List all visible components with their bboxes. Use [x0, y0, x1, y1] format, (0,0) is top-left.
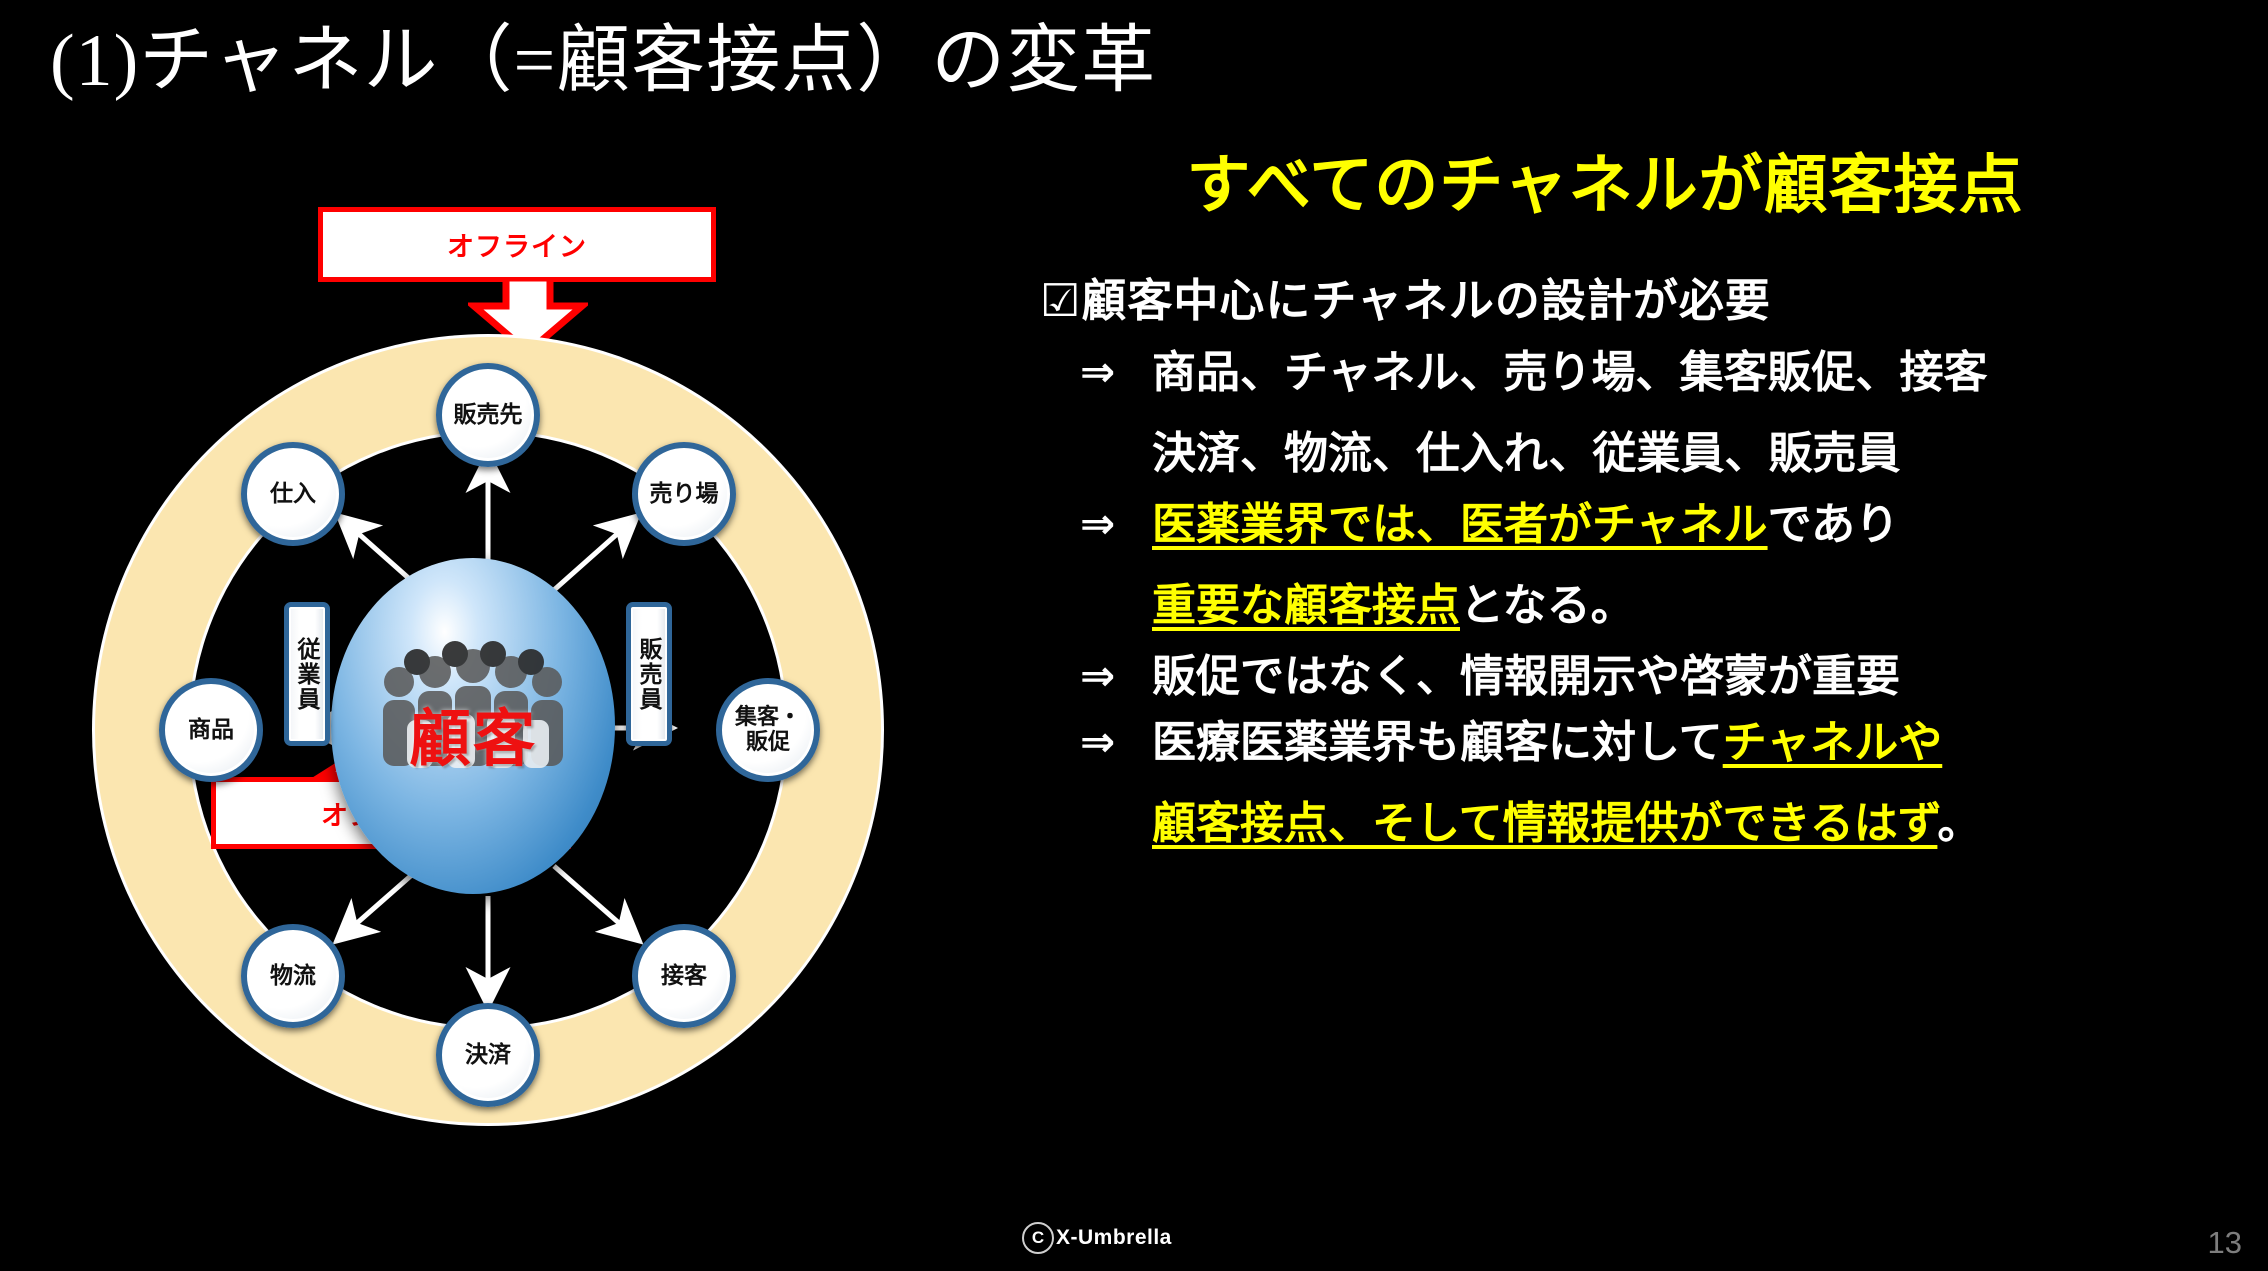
customer-touchpoint-diagram: オフライン — [78, 190, 898, 1190]
node-label: 販売先 — [454, 402, 523, 428]
node-label: 商品 — [188, 717, 234, 743]
callout-offline-label: オフライン — [447, 225, 587, 264]
callout-offline: オフライン — [318, 207, 716, 282]
headline: すべてのチャネルが顧客接点 — [940, 150, 2260, 220]
list-item: ⇒ 医薬業界では、医者がチャネルであり — [1080, 503, 2260, 547]
plain-text: であり — [1768, 500, 1900, 549]
node-sekkyaku[interactable]: 接客 — [632, 924, 736, 1028]
bullet-line: 商品、チャネル、売り場、集客販促、接客 — [1152, 351, 1988, 395]
arrow-glyph-icon: ⇒ — [1080, 721, 1152, 763]
content-column: すべてのチャネルが顧客接点 ☑顧客中心にチャネルの設計が必要 ⇒ 商品、チャネル… — [940, 150, 2260, 853]
subhead: ☑顧客中心にチャネルの設計が必要 — [940, 264, 2260, 329]
highlight-text: 顧客接点、そして情報提供ができるはず — [1152, 799, 1937, 848]
node-label-line2: 販促 — [746, 729, 790, 754]
node-shiire[interactable]: 仕入 — [241, 442, 345, 546]
highlight-text: チャネルや — [1723, 718, 1943, 767]
vertical-box-label: 従業員 — [290, 637, 324, 712]
node-hanbaisaki[interactable]: 販売先 — [436, 363, 540, 467]
bullet-line: 重要な顧客接点となる。 — [1080, 569, 2260, 633]
plain-text: 医療医薬業界も顧客に対して — [1152, 718, 1723, 767]
arrow-glyph-icon: ⇒ — [1080, 503, 1152, 545]
plain-text: となる。 — [1460, 581, 1635, 630]
node-label: 集客・ 販促 — [735, 705, 801, 754]
node-shohin[interactable]: 商品 — [159, 678, 263, 782]
node-label: 物流 — [270, 963, 316, 989]
bullet-line: 医薬業界では、医者がチャネルであり — [1152, 503, 1899, 547]
plain-text: 。 — [1937, 799, 1981, 848]
center-label: 顧客 — [331, 688, 615, 778]
list-item: ⇒ 商品、チャネル、売り場、集客販促、接客 — [1080, 351, 2260, 395]
copyright-icon: C — [1022, 1222, 1054, 1254]
arrow-glyph-icon: ⇒ — [1080, 655, 1152, 697]
node-shukyaku-hansoku[interactable]: 集客・ 販促 — [716, 678, 820, 782]
footer-logo: C X-Umbrella — [1022, 1222, 1172, 1254]
node-butsuryu[interactable]: 物流 — [241, 924, 345, 1028]
bullet-line: 決済、物流、仕入れ、従業員、販売員 — [1080, 417, 2260, 481]
brand-name: X-Umbrella — [1056, 1226, 1172, 1250]
highlight-text: 重要な顧客接点 — [1152, 581, 1460, 630]
node-uriba[interactable]: 売り場 — [632, 442, 736, 546]
node-label: 決済 — [465, 1042, 511, 1068]
bullet-line: 医療医薬業界も顧客に対してチャネルや — [1152, 721, 1942, 765]
page-number: 13 — [2208, 1225, 2242, 1261]
node-label: 仕入 — [270, 481, 316, 507]
node-label: 接客 — [661, 963, 707, 989]
arrow-glyph-icon: ⇒ — [1080, 351, 1152, 393]
page-title: (1)チャネル（=顧客接点）の変革 — [50, 22, 1156, 102]
node-label-line1: 集客・ — [735, 704, 801, 729]
bullet-list: ⇒ 商品、チャネル、売り場、集客販促、接客 決済、物流、仕入れ、従業員、販売員 … — [940, 351, 2260, 851]
node-kessai[interactable]: 決済 — [436, 1003, 540, 1107]
bullet-line: 販促ではなく、情報開示や啓蒙が重要 — [1152, 655, 1900, 699]
slide-canvas: (1)チャネル（=顧客接点）の変革 オフライン — [0, 0, 2268, 1271]
customer-sphere: 顧客 — [331, 558, 615, 894]
list-item: ⇒ 医療医薬業界も顧客に対してチャネルや — [1080, 721, 2260, 765]
vertical-box-jugyoin[interactable]: 従業員 — [284, 602, 330, 746]
node-label: 売り場 — [650, 481, 719, 507]
bullet-line: 顧客接点、そして情報提供ができるはず。 — [1080, 787, 2260, 851]
highlight-text: 医薬業界では、医者がチャネル — [1152, 500, 1768, 549]
list-item: ⇒ 販促ではなく、情報開示や啓蒙が重要 — [1080, 655, 2260, 699]
vertical-box-hanbaiin[interactable]: 販売員 — [626, 602, 672, 746]
vertical-box-label: 販売員 — [632, 637, 666, 712]
